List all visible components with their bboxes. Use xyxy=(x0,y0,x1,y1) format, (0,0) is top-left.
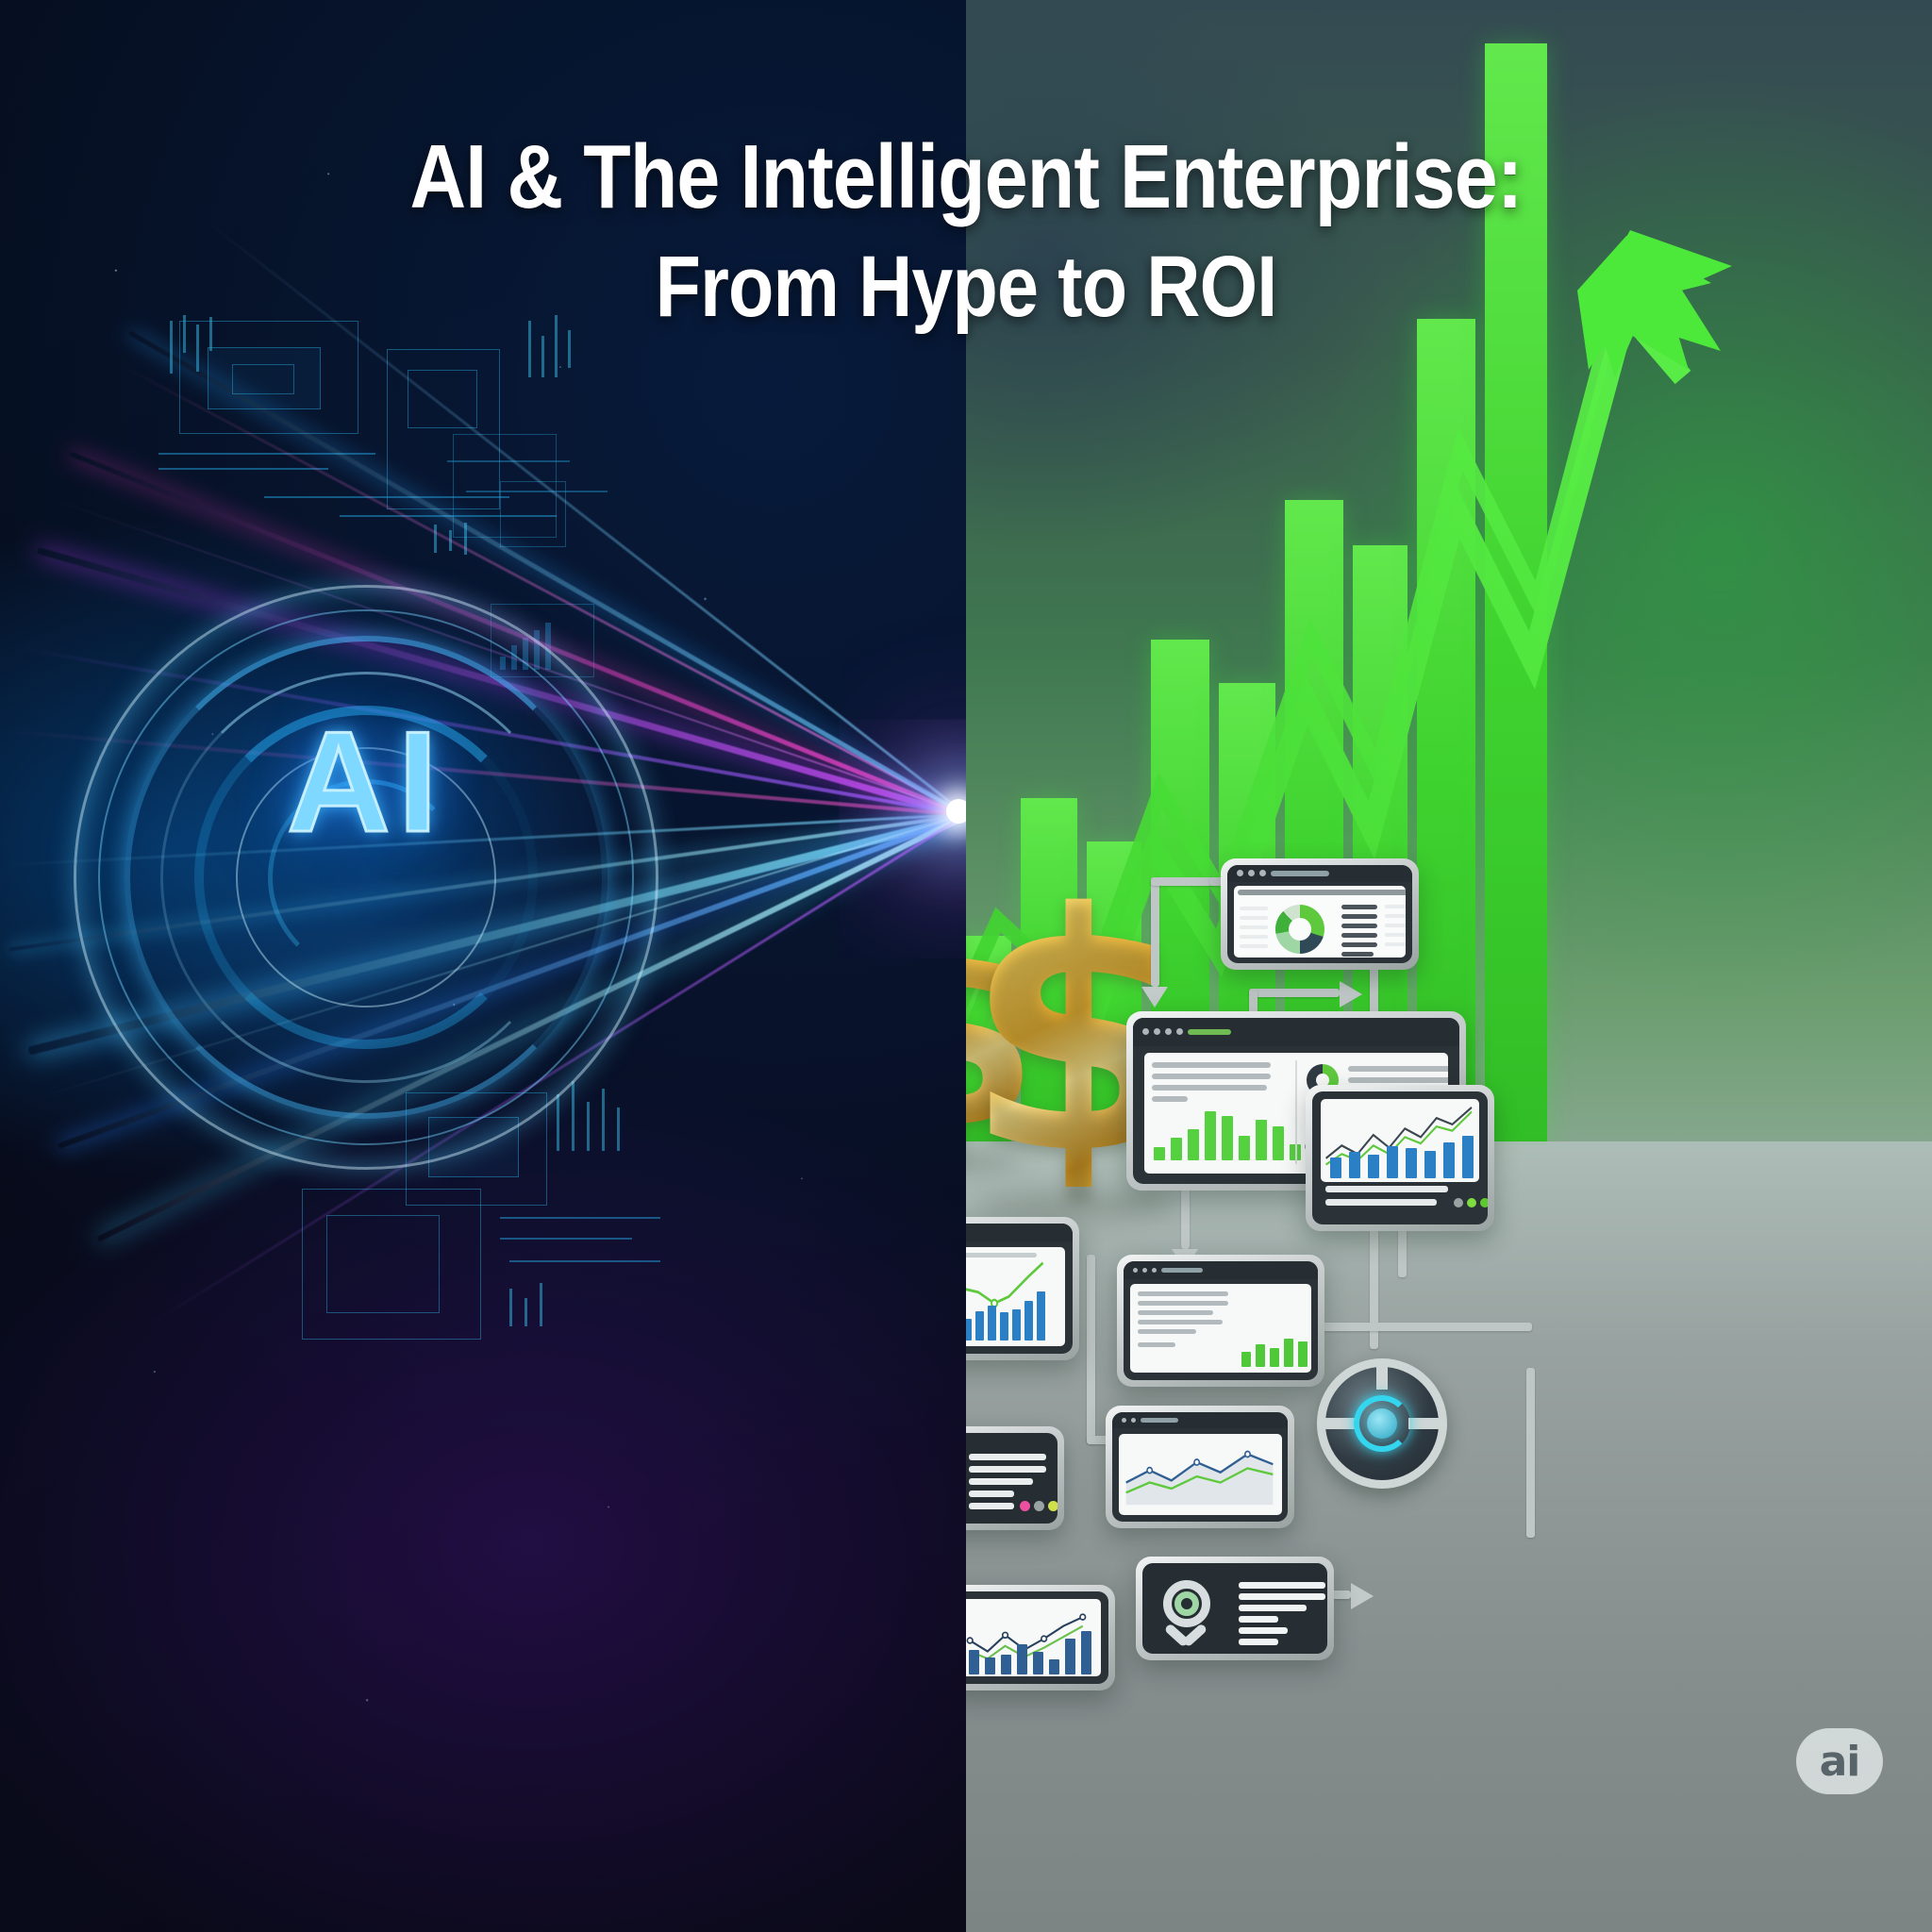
card-body xyxy=(1312,1091,1488,1224)
card-bar xyxy=(1012,1309,1021,1341)
card-body xyxy=(966,1224,1073,1354)
window-dot xyxy=(1237,870,1243,876)
table-row xyxy=(1341,924,1377,928)
status-dot-lime xyxy=(1048,1501,1058,1511)
card-screen xyxy=(1321,1099,1478,1181)
card-bar xyxy=(1239,1136,1250,1160)
card-bar xyxy=(1270,1348,1279,1367)
card-body xyxy=(966,1591,1108,1684)
area-chart-svg xyxy=(1119,1434,1282,1515)
card-bar xyxy=(1065,1639,1075,1674)
status-dot-green-2 xyxy=(1480,1198,1488,1207)
connector-top-arrowhead xyxy=(1141,987,1168,1008)
card-bar xyxy=(1443,1142,1455,1178)
card-bar xyxy=(1205,1111,1216,1160)
card-body xyxy=(1112,1412,1288,1522)
table-row xyxy=(1341,952,1374,957)
table-value xyxy=(1385,933,1406,937)
ai-holographic-orb xyxy=(74,585,658,1170)
window-dot xyxy=(1259,870,1266,876)
card-bar xyxy=(1001,1655,1011,1674)
card-screen xyxy=(1234,886,1406,958)
card-bar xyxy=(975,1311,984,1341)
analytics-card-small-bars[interactable] xyxy=(966,1585,1115,1690)
table-value xyxy=(1385,942,1406,946)
magnifier-inner-ring xyxy=(1174,1591,1199,1616)
card-titlebar xyxy=(966,1224,1073,1241)
card-screen xyxy=(1119,1434,1282,1515)
settings-card-gear[interactable] xyxy=(966,1426,1064,1530)
card-bar xyxy=(1298,1341,1307,1367)
status-dot-grey xyxy=(1454,1198,1463,1207)
card-screen xyxy=(966,1247,1065,1346)
insight-card-magnifier[interactable] xyxy=(1136,1557,1334,1660)
card-titlebar xyxy=(1124,1261,1318,1279)
connector-top-elbow-h xyxy=(1151,877,1213,886)
titlebar-pill xyxy=(1271,871,1329,876)
page-title-line-2: From Hype to ROI xyxy=(135,243,1796,330)
card-bar xyxy=(1154,1147,1165,1160)
card-body xyxy=(1124,1261,1318,1380)
text-row xyxy=(1138,1329,1196,1334)
status-dot-pink xyxy=(1020,1501,1030,1511)
table-value xyxy=(1385,914,1406,918)
card-bar xyxy=(1462,1136,1474,1178)
trend-line-svg xyxy=(1321,1099,1478,1181)
text-row xyxy=(1239,1627,1288,1634)
ai-orb-label: AI xyxy=(74,700,658,865)
card-bar xyxy=(1349,1152,1360,1178)
gauge-spoke xyxy=(1408,1418,1441,1429)
screen-header-line xyxy=(1238,890,1406,895)
connector-right-arrowhead xyxy=(1340,981,1362,1008)
status-dot-green xyxy=(1467,1198,1476,1207)
table-cell xyxy=(1240,935,1268,939)
text-row xyxy=(1152,1062,1271,1068)
table-cell xyxy=(1240,916,1268,920)
donut-hole xyxy=(1289,918,1311,941)
table-row xyxy=(1341,914,1377,919)
table-value xyxy=(1385,905,1406,908)
text-row xyxy=(1239,1639,1278,1645)
titlebar-pill xyxy=(1141,1418,1178,1423)
table-row xyxy=(1341,942,1377,947)
banner-canvas: AI xyxy=(0,0,1932,1932)
card-body xyxy=(1227,865,1412,963)
divider xyxy=(1295,1060,1297,1164)
card-body xyxy=(1142,1563,1327,1654)
card-bar xyxy=(1256,1120,1267,1160)
text-row xyxy=(969,1491,1014,1497)
text-row xyxy=(1348,1066,1448,1072)
connector-rightside-h xyxy=(1315,1323,1532,1331)
text-row xyxy=(1239,1593,1325,1600)
card-titlebar xyxy=(1227,865,1412,882)
card-bar xyxy=(1387,1146,1398,1178)
card-bar xyxy=(1273,1126,1284,1160)
watermark-label: ai xyxy=(1820,1738,1860,1786)
card-bar xyxy=(1188,1129,1199,1160)
card-bar xyxy=(1406,1148,1417,1178)
text-row xyxy=(1239,1582,1325,1589)
table-cell xyxy=(1240,944,1268,948)
ai-watermark-badge: ai xyxy=(1796,1728,1883,1794)
text-row xyxy=(1138,1342,1175,1347)
card-bar xyxy=(1284,1339,1293,1367)
card-bar xyxy=(1241,1352,1251,1367)
text-row xyxy=(969,1503,1014,1509)
card-bar xyxy=(969,1650,979,1674)
card-screen xyxy=(966,1599,1101,1676)
card-bar xyxy=(985,1657,995,1674)
text-row xyxy=(1239,1616,1278,1623)
text-row xyxy=(1152,1096,1188,1102)
card-bar xyxy=(1424,1151,1436,1178)
window-dot xyxy=(1165,1028,1172,1035)
text-row xyxy=(1152,1074,1271,1079)
card-titlebar xyxy=(1133,1018,1459,1046)
text-row xyxy=(1348,1077,1448,1083)
window-dot xyxy=(1154,1028,1160,1035)
table-row xyxy=(1341,905,1377,909)
card-bar xyxy=(1368,1155,1379,1178)
window-dot xyxy=(1176,1028,1183,1035)
convergence-glow-point xyxy=(946,799,966,824)
card-bar xyxy=(1017,1644,1027,1674)
titlebar-pill xyxy=(1188,1029,1231,1035)
connector-lower-elbow-v xyxy=(1087,1255,1095,1443)
titlebar-pill xyxy=(1161,1268,1203,1273)
gauge-core xyxy=(1367,1408,1397,1439)
card-bar xyxy=(1330,1158,1341,1178)
analytics-card-area-chart[interactable] xyxy=(1106,1406,1294,1528)
text-row xyxy=(1239,1605,1307,1611)
footer-row xyxy=(1325,1186,1448,1192)
card-bar xyxy=(1000,1312,1008,1341)
card-bar xyxy=(1049,1659,1059,1674)
card-body xyxy=(966,1433,1058,1524)
floor-plane xyxy=(966,1141,1932,1932)
table-cell xyxy=(1240,925,1268,929)
window-dot xyxy=(1142,1028,1149,1035)
card-bar xyxy=(1033,1652,1043,1674)
card-screen xyxy=(1130,1284,1311,1374)
text-row xyxy=(969,1454,1046,1460)
connector-top-elbow-v xyxy=(1151,877,1159,987)
connector-rightside-v xyxy=(1526,1368,1535,1538)
text-row xyxy=(1138,1320,1223,1324)
connector-right-elbow-h xyxy=(1249,989,1340,997)
text-row xyxy=(1138,1291,1228,1296)
card-titlebar xyxy=(1112,1412,1288,1428)
card-bar xyxy=(1256,1344,1265,1367)
card-bar xyxy=(1222,1116,1233,1160)
status-dot-grey xyxy=(1034,1501,1044,1511)
gauge-spoke xyxy=(1324,1418,1356,1429)
window-dot xyxy=(1133,1268,1138,1273)
table-cell xyxy=(1240,907,1268,910)
text-row xyxy=(1152,1085,1267,1091)
banner-title: AI & The Intelligent Enterprise: From Hy… xyxy=(0,132,1932,330)
text-row xyxy=(1138,1310,1213,1315)
window-dot xyxy=(1248,870,1255,876)
window-dot xyxy=(1152,1268,1157,1273)
window-dot xyxy=(1122,1418,1126,1423)
text-row xyxy=(1138,1301,1228,1306)
gauge-spoke xyxy=(1376,1365,1388,1390)
card-bar xyxy=(966,1319,972,1341)
analytics-card-trend-tablet[interactable] xyxy=(1306,1085,1494,1231)
analytics-card-mid-bars[interactable] xyxy=(1117,1255,1324,1387)
card-bar xyxy=(1171,1138,1182,1160)
card-bar xyxy=(988,1306,996,1341)
text-row xyxy=(969,1478,1033,1485)
text-row xyxy=(969,1466,1046,1473)
analytics-card-donut-table[interactable] xyxy=(1221,858,1419,970)
card-bar xyxy=(1037,1291,1045,1341)
window-dot xyxy=(1142,1268,1147,1273)
card-bar xyxy=(1024,1301,1033,1341)
card-bar xyxy=(1081,1631,1091,1674)
ai-core-gauge[interactable] xyxy=(1317,1358,1447,1489)
table-value xyxy=(1385,924,1406,927)
table-row xyxy=(1341,933,1377,938)
window-dot xyxy=(1131,1418,1136,1423)
page-title-line-1: AI & The Intelligent Enterprise: xyxy=(135,132,1796,223)
footer-row xyxy=(1325,1199,1437,1206)
analytics-card-left-trend[interactable] xyxy=(966,1217,1079,1360)
connector-bottom-right-arrowhead xyxy=(1351,1583,1374,1609)
